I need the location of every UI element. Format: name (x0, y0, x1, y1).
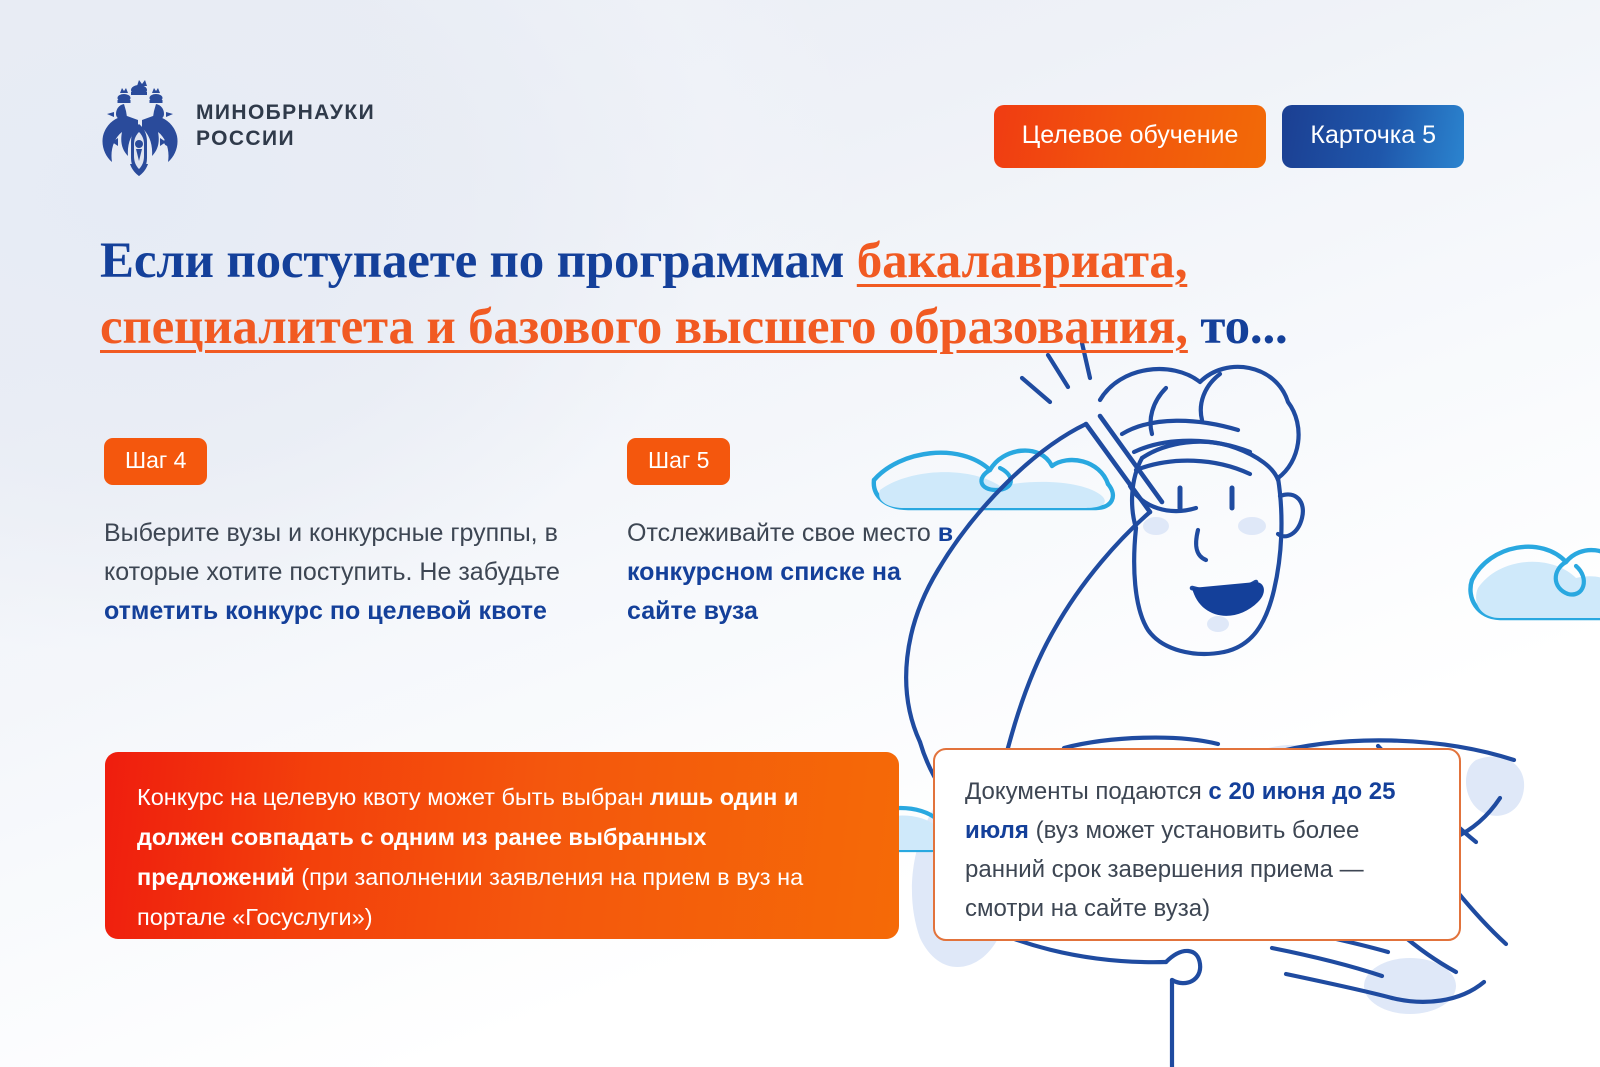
step-text-4-bold: отметить конкурс по целевой квоте (104, 597, 547, 625)
russian-coat-of-arms-icon (100, 76, 178, 176)
badge-card-number[interactable]: Карточка 5 (1282, 105, 1464, 168)
badge-group: Целевое обучение Карточка 5 (994, 105, 1464, 168)
page-title: Если поступаете по программам бакалавриа… (100, 228, 1510, 361)
cloud-right-icon (1470, 547, 1600, 618)
orange-callout-plain-1: Конкурс на целевую квоту может быть выбр… (137, 784, 650, 810)
head (1100, 367, 1303, 654)
step-text-4: Выберите вузы и конкурсные группы, в кот… (104, 514, 574, 631)
ministry-name: МИНОБРНАУКИ РОССИИ (196, 100, 375, 151)
ministry-brand: МИНОБРНАУКИ РОССИИ (100, 76, 375, 176)
white-callout-plain-1: Документы подаются (965, 778, 1208, 805)
badge-topic[interactable]: Целевое обучение (994, 105, 1267, 168)
step-block-5: Шаг 5 Отслеживайте свое место в конкурсн… (627, 438, 957, 631)
title-part-1: Если поступаете по программам (100, 233, 857, 289)
step-block-4: Шаг 4 Выберите вузы и конкурсные группы,… (104, 438, 574, 631)
orange-callout: Конкурс на целевую квоту может быть выбр… (105, 752, 899, 939)
infographic-card: МИНОБРНАУКИ РОССИИ Целевое обучение Карт… (0, 0, 1600, 1067)
hand-over-brow (1086, 416, 1250, 512)
step-text-5: Отслеживайте свое место в конкурсном спи… (627, 514, 957, 631)
white-callout: Документы подаются с 20 июня до 25 июля … (933, 748, 1461, 941)
step-badge-4: Шаг 4 (104, 438, 207, 485)
step-text-5-plain: Отслеживайте свое место (627, 519, 938, 547)
step-text-4-plain: Выберите вузы и конкурсные группы, в кот… (104, 519, 560, 586)
title-part-2: то... (1188, 299, 1288, 355)
face (1143, 488, 1266, 632)
step-badge-5: Шаг 5 (627, 438, 730, 485)
header: МИНОБРНАУКИ РОССИИ Целевое обучение Карт… (0, 0, 1600, 200)
